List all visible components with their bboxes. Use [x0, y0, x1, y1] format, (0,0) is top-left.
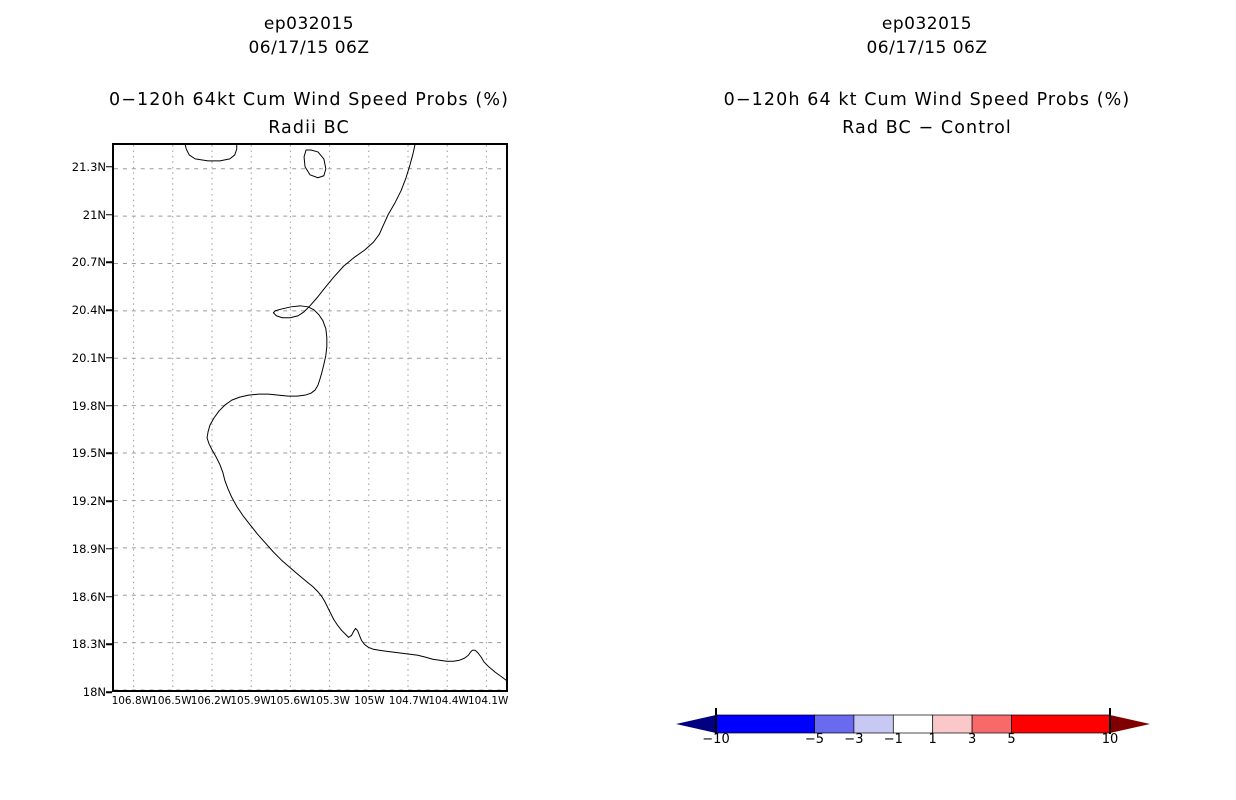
colorbar-tick-label: 3	[968, 732, 976, 747]
y-tick-label: 20.4N	[72, 304, 106, 316]
colorbar-end-cap	[1109, 708, 1111, 734]
left-y-axis-ticks	[106, 143, 112, 692]
left-panel-header: ep032015 06/17/15 06Z	[0, 12, 618, 60]
right-title-line1: 0−120h 64 kt Cum Wind Speed Probs (%)	[618, 86, 1236, 114]
y-tick-label: 20.1N	[72, 352, 106, 364]
y-tick-label: 18.6N	[72, 591, 106, 603]
y-tick-label: 18.3N	[72, 638, 106, 650]
y-tick-mark	[106, 644, 112, 646]
left-title-line2: Radii BC	[0, 114, 618, 142]
y-tick-mark	[106, 214, 112, 216]
y-tick-mark	[106, 548, 112, 550]
y-tick-mark	[106, 500, 112, 502]
left-datetime: 06/17/15 06Z	[0, 36, 618, 60]
colorbar-tick-label: −1	[884, 732, 903, 747]
colorbar-end-cap	[715, 708, 717, 734]
colorbar-tick-label: −3	[844, 732, 863, 747]
right-panel-header: ep032015 06/17/15 06Z	[618, 12, 1236, 60]
y-tick-label: 20.7N	[72, 256, 106, 268]
colorbar-tick-label: 1	[929, 732, 937, 747]
x-tick-label: 105.6W	[270, 695, 310, 707]
y-tick-mark	[106, 691, 112, 693]
x-tick-label: 104.4W	[428, 695, 468, 707]
colorbar-tick-labels: −10−5−3−113510	[676, 726, 1150, 746]
left-panel-title: 0−120h 64kt Cum Wind Speed Probs (%) Rad…	[0, 86, 618, 142]
y-tick-label: 19.2N	[72, 495, 106, 507]
y-tick-mark	[106, 309, 112, 311]
colorbar-tick-label: 10	[1102, 732, 1119, 747]
y-tick-mark	[106, 453, 112, 455]
x-tick-label: 105.9W	[230, 695, 270, 707]
left-coastline	[114, 145, 506, 690]
y-tick-label: 21.3N	[72, 161, 106, 173]
y-tick-mark	[106, 166, 112, 168]
y-tick-mark	[106, 596, 112, 598]
x-tick-label: 105W	[354, 695, 384, 707]
y-tick-label: 18.9N	[72, 543, 106, 555]
colorbar-tick-label: 5	[1007, 732, 1015, 747]
right-panel-title: 0−120h 64 kt Cum Wind Speed Probs (%) Ra…	[618, 86, 1236, 142]
x-tick-label: 106.2W	[191, 695, 231, 707]
y-tick-label: 19.5N	[72, 447, 106, 459]
x-tick-label: 106.8W	[112, 695, 152, 707]
colorbar-tick-label: −10	[702, 732, 729, 747]
y-tick-mark	[106, 405, 112, 407]
x-tick-label: 106.5W	[151, 695, 191, 707]
panel-radii-bc: ep032015 06/17/15 06Z 0−120h 64kt Cum Wi…	[0, 0, 618, 800]
left-storm-id: ep032015	[0, 12, 618, 36]
y-tick-label: 18N	[83, 686, 106, 698]
y-tick-label: 19.8N	[72, 400, 106, 412]
left-title-line1: 0−120h 64kt Cum Wind Speed Probs (%)	[0, 86, 618, 114]
left-x-axis-labels: 106.8W106.5W106.2W105.9W105.6W105.3W105W…	[112, 695, 508, 711]
y-tick-mark	[106, 262, 112, 264]
x-tick-label: 105.3W	[310, 695, 350, 707]
x-tick-label: 104.7W	[389, 695, 429, 707]
y-tick-mark	[106, 357, 112, 359]
right-title-line2: Rad BC − Control	[618, 114, 1236, 142]
left-y-axis-labels: 21.3N21N20.7N20.4N20.1N19.8N19.5N19.2N18…	[58, 143, 106, 692]
panel-rad-bc-minus-control: ep032015 06/17/15 06Z 0−120h 64 kt Cum W…	[618, 0, 1236, 800]
left-map-plot	[112, 143, 508, 692]
colorbar-tick-label: −5	[805, 732, 824, 747]
right-datetime: 06/17/15 06Z	[618, 36, 1236, 60]
y-tick-label: 21N	[83, 209, 106, 221]
x-tick-label: 104.1W	[468, 695, 508, 707]
right-storm-id: ep032015	[618, 12, 1236, 36]
